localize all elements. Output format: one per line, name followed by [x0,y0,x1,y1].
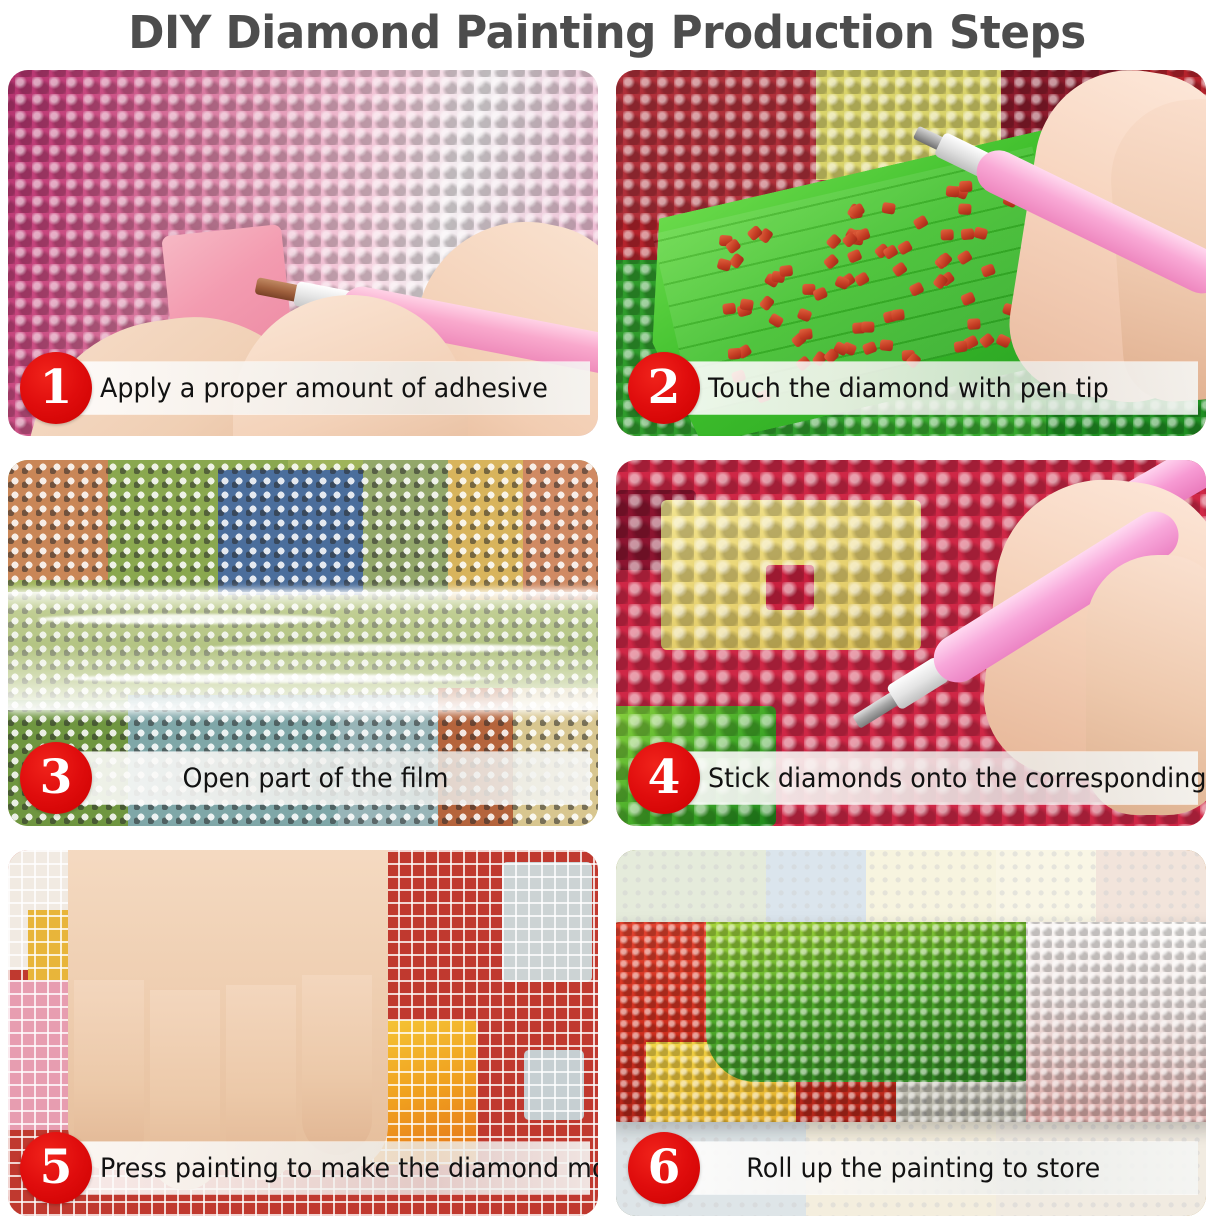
drill [825,233,842,250]
drill [897,240,914,256]
step-caption-bar-4: Stick diamonds onto the corresponding ca… [646,752,1198,804]
drill [728,348,742,360]
film-streak [68,674,488,683]
step-caption: Touch the diamond with pen tip [708,375,1109,402]
drill [956,250,973,266]
step-number: 5 [40,1144,73,1191]
pressing-hand [68,850,388,1170]
drill [882,202,897,215]
drill [958,203,972,215]
drill [912,214,929,230]
step-caption: Apply a proper amount of adhesive [100,375,548,402]
drill [960,291,976,306]
protective-film [8,592,598,710]
step-number: 4 [648,754,681,801]
drill [891,309,905,321]
drill [796,307,812,322]
step-number: 2 [648,364,681,411]
drill [968,318,982,330]
drill [739,298,754,311]
step-panel-2[interactable]: 2 Touch the diamond with pen tip [616,70,1206,436]
drill [767,313,784,329]
step-panel-5[interactable]: 5 Press painting to make the diamond mor… [8,850,598,1216]
step-number: 6 [648,1144,681,1191]
step-number: 3 [40,754,73,801]
drill [946,185,960,197]
drill [799,328,813,340]
step-caption-bar-5: Press painting to make the diamond more … [38,1142,590,1194]
drill [892,262,909,278]
step-caption-bar-2: Touch the diamond with pen tip [646,362,1198,414]
step-caption-bar-6: Roll up the painting to store [646,1142,1198,1194]
steps-grid: 1 Apply a proper amount of adhesive [8,70,1206,1216]
drill [722,302,736,315]
drill [973,226,989,240]
film-streak [38,614,338,624]
step-caption-bar-1: Apply a proper amount of adhesive [38,362,590,414]
drill [954,340,968,353]
film-streak [208,644,568,652]
step-panel-4[interactable]: 4 Stick diamonds onto the corresponding … [616,460,1206,826]
drill [716,257,732,271]
step-badge-5: 5 [20,1132,92,1204]
drill [908,281,925,297]
drill [846,249,862,264]
step-badge-3: 3 [20,742,92,814]
drill [980,263,996,278]
page-title: DIY Diamond Painting Production Steps [18,0,1196,64]
bead-texture [616,922,1206,1122]
drill [979,332,996,349]
drill [779,265,793,277]
drill [960,229,974,241]
step-number: 1 [40,364,73,411]
finger-pinky [302,975,372,1155]
drill [853,271,870,287]
drill [855,228,871,243]
step-badge-6: 6 [628,1132,700,1204]
drill [759,294,776,311]
step-caption: Roll up the painting to store [746,1155,1100,1182]
drill [879,339,893,351]
rolled-painting [616,922,1206,1122]
drill [995,333,1011,348]
drill [941,229,954,240]
drill [862,341,878,356]
step-badge-1: 1 [20,352,92,424]
step-caption: Open part of the film [182,765,448,792]
step-caption: Press painting to make the diamond more … [100,1155,598,1182]
drill [861,322,874,333]
drill [823,253,840,270]
step-panel-3[interactable]: 3 Open part of the film [8,460,598,826]
step-caption-bar-3: Open part of the film [38,752,590,804]
step-panel-1[interactable]: 1 Apply a proper amount of adhesive [8,70,598,436]
step-panel-6[interactable]: 6 Roll up the painting to store [616,850,1206,1216]
step-caption: Stick diamonds onto the corresponding ca… [708,765,1206,792]
step-badge-2: 2 [628,352,700,424]
step-badge-4: 4 [628,742,700,814]
